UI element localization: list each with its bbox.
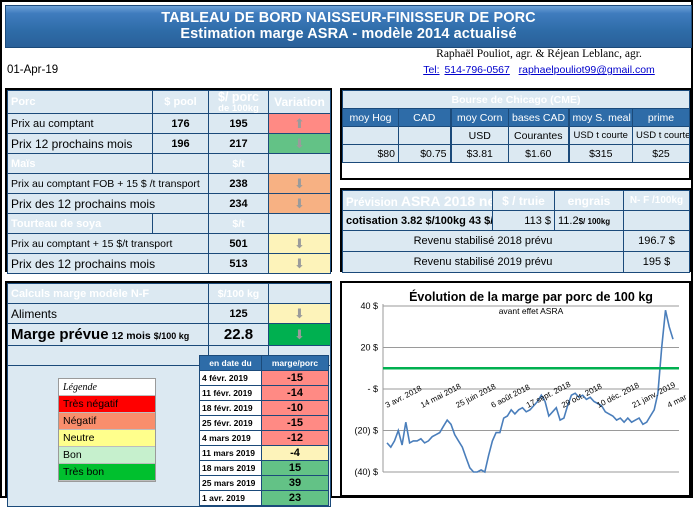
- mais-header-label: Maïs: [8, 154, 153, 174]
- row-perpig-value: 195: [209, 114, 269, 134]
- table-row: 25 mars 2019 39: [200, 476, 329, 491]
- asra-col-engrais: engrais: [555, 191, 624, 211]
- row-label: Prix au comptant: [8, 114, 153, 134]
- table-row: Revenu stabilisé 2019 prévu 195 $: [343, 252, 690, 273]
- asra-panel: Prévision ASRA 2018 net $ / truie engrai…: [340, 188, 691, 272]
- aliments-label: Aliments: [8, 304, 209, 324]
- cme-col-prime: prime: [633, 109, 690, 127]
- history-value: -10: [262, 401, 329, 416]
- history-value: 23: [262, 491, 329, 506]
- table-row: 4 févr. 2019 -15: [200, 371, 329, 386]
- row-pool-value: 196: [153, 134, 209, 154]
- history-value: -15: [262, 416, 329, 431]
- table-row: Revenu stabilisé 2018 prévu 196.7 $: [343, 231, 690, 252]
- margin-history-grid: en date du marge/porc 4 févr. 2019 -15 1…: [199, 355, 329, 506]
- table-row: 11 mars 2019 -4: [200, 446, 329, 461]
- revenu-2019-label: Revenu stabilisé 2019 prévu: [343, 252, 624, 273]
- arrow-down-icon: ⬇: [272, 257, 327, 270]
- row-value: 234: [209, 194, 269, 214]
- porc-header-perpig: $/ porc de 100kg: [209, 91, 269, 114]
- aliments-variation: ⬇: [269, 304, 331, 324]
- margin-history-table: en date du marge/porc 4 févr. 2019 -15 1…: [199, 355, 328, 506]
- cme-col-cad: CAD: [399, 109, 451, 127]
- row-label: Prix 12 prochains mois: [8, 134, 153, 154]
- history-header-margin: marge/porc: [262, 356, 329, 371]
- marge-prevue-value: 22.8: [209, 324, 269, 346]
- table-row: Prix au comptant 176 195 ⬆: [8, 114, 331, 134]
- asra-title: Prévision ASRA 2018 net: [343, 191, 493, 211]
- marge-prevue-label: Marge prévue 12 mois $/100 kg: [8, 324, 209, 346]
- table-row: $80 $0.75 $3.81 $1.60 $315 $25: [343, 145, 690, 163]
- spacer-cell: [8, 346, 209, 366]
- arrow-up-icon: ⬆: [272, 117, 327, 130]
- arrow-down-icon: ⬇: [272, 328, 327, 341]
- chart-xtick-label: 3 avr. 2018: [384, 384, 424, 410]
- table-row: 18 mars 2019 15: [200, 461, 329, 476]
- row-variation: ⬇: [269, 194, 331, 214]
- legend-title: Légende: [59, 379, 155, 396]
- page-title-line1: TABLEAU DE BORD NAISSEUR-FINISSEUR DE PO…: [161, 11, 536, 26]
- tel-label[interactable]: Tel:: [423, 64, 439, 76]
- history-value: -14: [262, 386, 329, 401]
- row-variation: ⬇: [269, 254, 331, 274]
- legend-item-negatif: Négatif: [59, 413, 155, 430]
- row-label: Prix des 12 prochains mois: [8, 254, 209, 274]
- revenu-2019-value: 195 $: [624, 252, 690, 273]
- table-row: cotisation 3.82 $/100kg 43 $/truie 113 $…: [343, 211, 690, 231]
- history-value: -4: [262, 446, 329, 461]
- marge-prevue-period: 12 mois: [112, 330, 151, 342]
- cme-sub-prime: USD t courte: [633, 127, 690, 145]
- row-label: Prix au comptant FOB + 15 $ /t transport: [8, 174, 209, 194]
- row-label: Prix au comptant + 15 $/t transport: [8, 234, 209, 254]
- history-date: 4 mars 2019: [200, 431, 262, 446]
- chart-svg: 40 $20 $- $(20) $(40) $3 avr. 201814 mai…: [345, 286, 686, 492]
- asra-col-truie: $ / truie: [493, 191, 555, 211]
- asra-engrais-cell: 11.2$/ 100kg: [555, 211, 624, 231]
- table-row: 18 févr. 2019 -10: [200, 401, 329, 416]
- marge-prevue-title: Marge prévue: [11, 326, 109, 343]
- history-date: 11 févr. 2019: [200, 386, 262, 401]
- marge-header-spacer: [269, 284, 331, 304]
- asra-nf-blank: [624, 211, 690, 231]
- margin-evolution-chart-panel: Évolution de la marge par porc de 100 kg…: [340, 281, 691, 497]
- history-value: -12: [262, 431, 329, 446]
- table-row: Prix 12 prochains mois 196 217 ⬇: [8, 134, 331, 154]
- history-date: 4 févr. 2019: [200, 371, 262, 386]
- row-variation: ⬇: [269, 234, 331, 254]
- porc-header-pool: $ pool: [153, 91, 209, 114]
- chart-ytick-label: (20) $: [354, 426, 378, 436]
- cme-value-moy-s-meal: $315: [569, 145, 633, 163]
- chart-ytick-label: - $: [367, 384, 378, 394]
- cme-sub-moy-corn: USD: [451, 127, 509, 145]
- asra-engrais-value: 11.2: [558, 215, 579, 227]
- cme-value-moy-corn: $3.81: [451, 145, 509, 163]
- chart-xtick-label: 6 août 2018: [490, 382, 532, 409]
- row-perpig-value: 217: [209, 134, 269, 154]
- arrow-down-icon: ⬇: [272, 137, 327, 150]
- marge-header-label: Calculs marge modèle N-F: [8, 284, 209, 304]
- subheader: 01-Apr-19 Raphaël Pouliot, agr. & Réjean…: [5, 47, 690, 84]
- mais-header-spacer: [153, 154, 209, 174]
- legend-item-bon: Bon: [59, 447, 155, 464]
- table-row: Prix des 12 prochains mois 513 ⬇: [8, 254, 331, 274]
- cme-sub-cad: [399, 127, 451, 145]
- page-title-banner: TABLEAU DE BORD NAISSEUR-FINISSEUR DE PO…: [5, 5, 692, 48]
- cme-sub-moy-hog: [343, 127, 399, 145]
- chart-plot-area: 40 $20 $- $(20) $(40) $3 avr. 201814 mai…: [345, 286, 686, 492]
- email-link[interactable]: raphaelpouliot99@gmail.com: [519, 64, 655, 76]
- marge-header-unit: $/100 kg: [209, 284, 269, 304]
- asra-table: Prévision ASRA 2018 net $ / truie engrai…: [342, 190, 690, 273]
- asra-cotisation: cotisation 3.82 $/100kg 43 $/truie: [343, 211, 493, 231]
- table-row-header: moy Hog CAD moy Corn bases CAD moy S. me…: [343, 109, 690, 127]
- table-row: USD Courantes USD t courte USD t courte: [343, 127, 690, 145]
- legend-box: Légende Très négatif Négatif Neutre Bon …: [58, 378, 156, 482]
- legend-item-tres-negatif: Très négatif: [59, 396, 155, 413]
- table-row: Marge prévue 12 mois $/100 kg 22.8 ⬇: [8, 324, 331, 346]
- row-value: 238: [209, 174, 269, 194]
- cme-col-moy-s-meal: moy S. meal: [569, 109, 633, 127]
- porc-header-variation: Variation: [269, 91, 331, 114]
- row-variation: ⬇: [269, 134, 331, 154]
- table-row-header-marge: Calculs marge modèle N-F $/100 kg: [8, 284, 331, 304]
- arrow-down-icon: ⬇: [272, 307, 327, 320]
- history-date: 25 févr. 2019: [200, 416, 262, 431]
- soya-header-spacer: [153, 214, 209, 234]
- history-value: 15: [262, 461, 329, 476]
- cme-value-cad: $0.75: [399, 145, 451, 163]
- row-pool-value: 176: [153, 114, 209, 134]
- mais-header-spacer2: [269, 154, 331, 174]
- aliments-value: 125: [209, 304, 269, 324]
- chart-ytick-label: 20 $: [360, 343, 378, 353]
- cme-title: Bourse de Chicago (CME): [343, 91, 690, 109]
- chart-ytick-label: 40 $: [360, 301, 378, 311]
- porc-header-label: Porc: [8, 91, 153, 114]
- history-value: -15: [262, 371, 329, 386]
- soya-header-unit: $/t: [209, 214, 269, 234]
- asra-title-main: ASRA 2018 net: [401, 193, 493, 209]
- report-date: 01-Apr-19: [7, 64, 58, 76]
- history-date: 25 mars 2019: [200, 476, 262, 491]
- history-date: 11 mars 2019: [200, 446, 262, 461]
- revenu-2018-label: Revenu stabilisé 2018 prévu: [343, 231, 624, 252]
- row-value: 513: [209, 254, 269, 274]
- arrow-down-icon: ⬇: [272, 237, 327, 250]
- chart-canvas: Évolution de la marge par porc de 100 kg…: [345, 286, 686, 492]
- legend-item-neutre: Neutre: [59, 430, 155, 447]
- cme-value-bases-cad: $1.60: [509, 145, 569, 163]
- table-row: Prix au comptant FOB + 15 $ /t transport…: [8, 174, 331, 194]
- cme-value-moy-hog: $80: [343, 145, 399, 163]
- row-variation: ⬆: [269, 114, 331, 134]
- cme-col-moy-corn: moy Corn: [451, 109, 509, 127]
- cme-col-moy-hog: moy Hog: [343, 109, 399, 127]
- row-label: Prix des 12 prochains mois: [8, 194, 209, 214]
- table-row-header: Bourse de Chicago (CME): [343, 91, 690, 109]
- contact-line: Tel: 514-796-0567 raphaelpouliot99@gmail…: [390, 64, 688, 76]
- asra-truie-value: 113 $: [493, 211, 555, 231]
- table-row: Prix au comptant + 15 $/t transport 501 …: [8, 234, 331, 254]
- cme-table: Bourse de Chicago (CME) moy Hog CAD moy …: [342, 90, 690, 163]
- marge-prevue-unit: $/100 kg: [154, 331, 190, 341]
- history-date: 1 avr. 2019: [200, 491, 262, 506]
- row-variation: ⬇: [269, 174, 331, 194]
- table-row: 1 avr. 2019 23: [200, 491, 329, 506]
- table-row-header: Prévision ASRA 2018 net $ / truie engrai…: [343, 191, 690, 211]
- table-row: Prix des 12 prochains mois 234 ⬇: [8, 194, 331, 214]
- table-row-header: en date du marge/porc: [200, 356, 329, 371]
- soya-header-label: Tourteau de soya: [8, 214, 153, 234]
- asra-title-pre: Prévision: [346, 197, 398, 209]
- revenu-2018-value: 196.7 $: [624, 231, 690, 252]
- table-row: 4 mars 2019 -12: [200, 431, 329, 446]
- dashboard-page: TABLEAU DE BORD NAISSEUR-FINISSEUR DE PO…: [0, 0, 693, 498]
- table-row-header-mais: Maïs $/t: [8, 154, 331, 174]
- table-row: 25 févr. 2019 -15: [200, 416, 329, 431]
- arrow-down-icon: ⬇: [272, 197, 327, 210]
- soya-header-spacer2: [269, 214, 331, 234]
- history-date: 18 mars 2019: [200, 461, 262, 476]
- arrow-down-icon: ⬇: [272, 177, 327, 190]
- legend-item-tres-bon: Très bon: [59, 464, 155, 481]
- cme-value-prime: $25: [633, 145, 690, 163]
- history-value: 39: [262, 476, 329, 491]
- history-date: 18 févr. 2019: [200, 401, 262, 416]
- asra-col-nf: N- F /100kg: [624, 191, 690, 211]
- marge-prevue-variation: ⬇: [269, 324, 331, 346]
- table-row: 11 févr. 2019 -14: [200, 386, 329, 401]
- cme-sub-bases-cad: Courantes: [509, 127, 569, 145]
- table-row: Aliments 125 ⬇: [8, 304, 331, 324]
- table-row-header-soya: Tourteau de soya $/t: [8, 214, 331, 234]
- prices-panel: Porc $ pool $/ porc de 100kg Variation P…: [5, 88, 332, 272]
- chart-ytick-label: (40) $: [354, 467, 378, 477]
- prices-table: Porc $ pool $/ porc de 100kg Variation P…: [7, 90, 331, 274]
- table-row-header-porc: Porc $ pool $/ porc de 100kg Variation: [8, 91, 331, 114]
- asra-engrais-unit: $/ 100kg: [579, 217, 611, 226]
- cme-panel: Bourse de Chicago (CME) moy Hog CAD moy …: [340, 88, 691, 180]
- page-title-line2: Estimation marge ASRA - modèle 2014 actu…: [180, 26, 516, 43]
- tel-number[interactable]: 514-796-0567: [444, 64, 509, 76]
- mais-header-unit: $/t: [209, 154, 269, 174]
- cme-sub-moy-s-meal: USD t courte: [569, 127, 633, 145]
- row-value: 501: [209, 234, 269, 254]
- cme-col-bases-cad: bases CAD: [509, 109, 569, 127]
- history-header-date: en date du: [200, 356, 262, 371]
- authors-line: Raphaël Pouliot, agr. & Réjean Leblanc, …: [390, 48, 688, 60]
